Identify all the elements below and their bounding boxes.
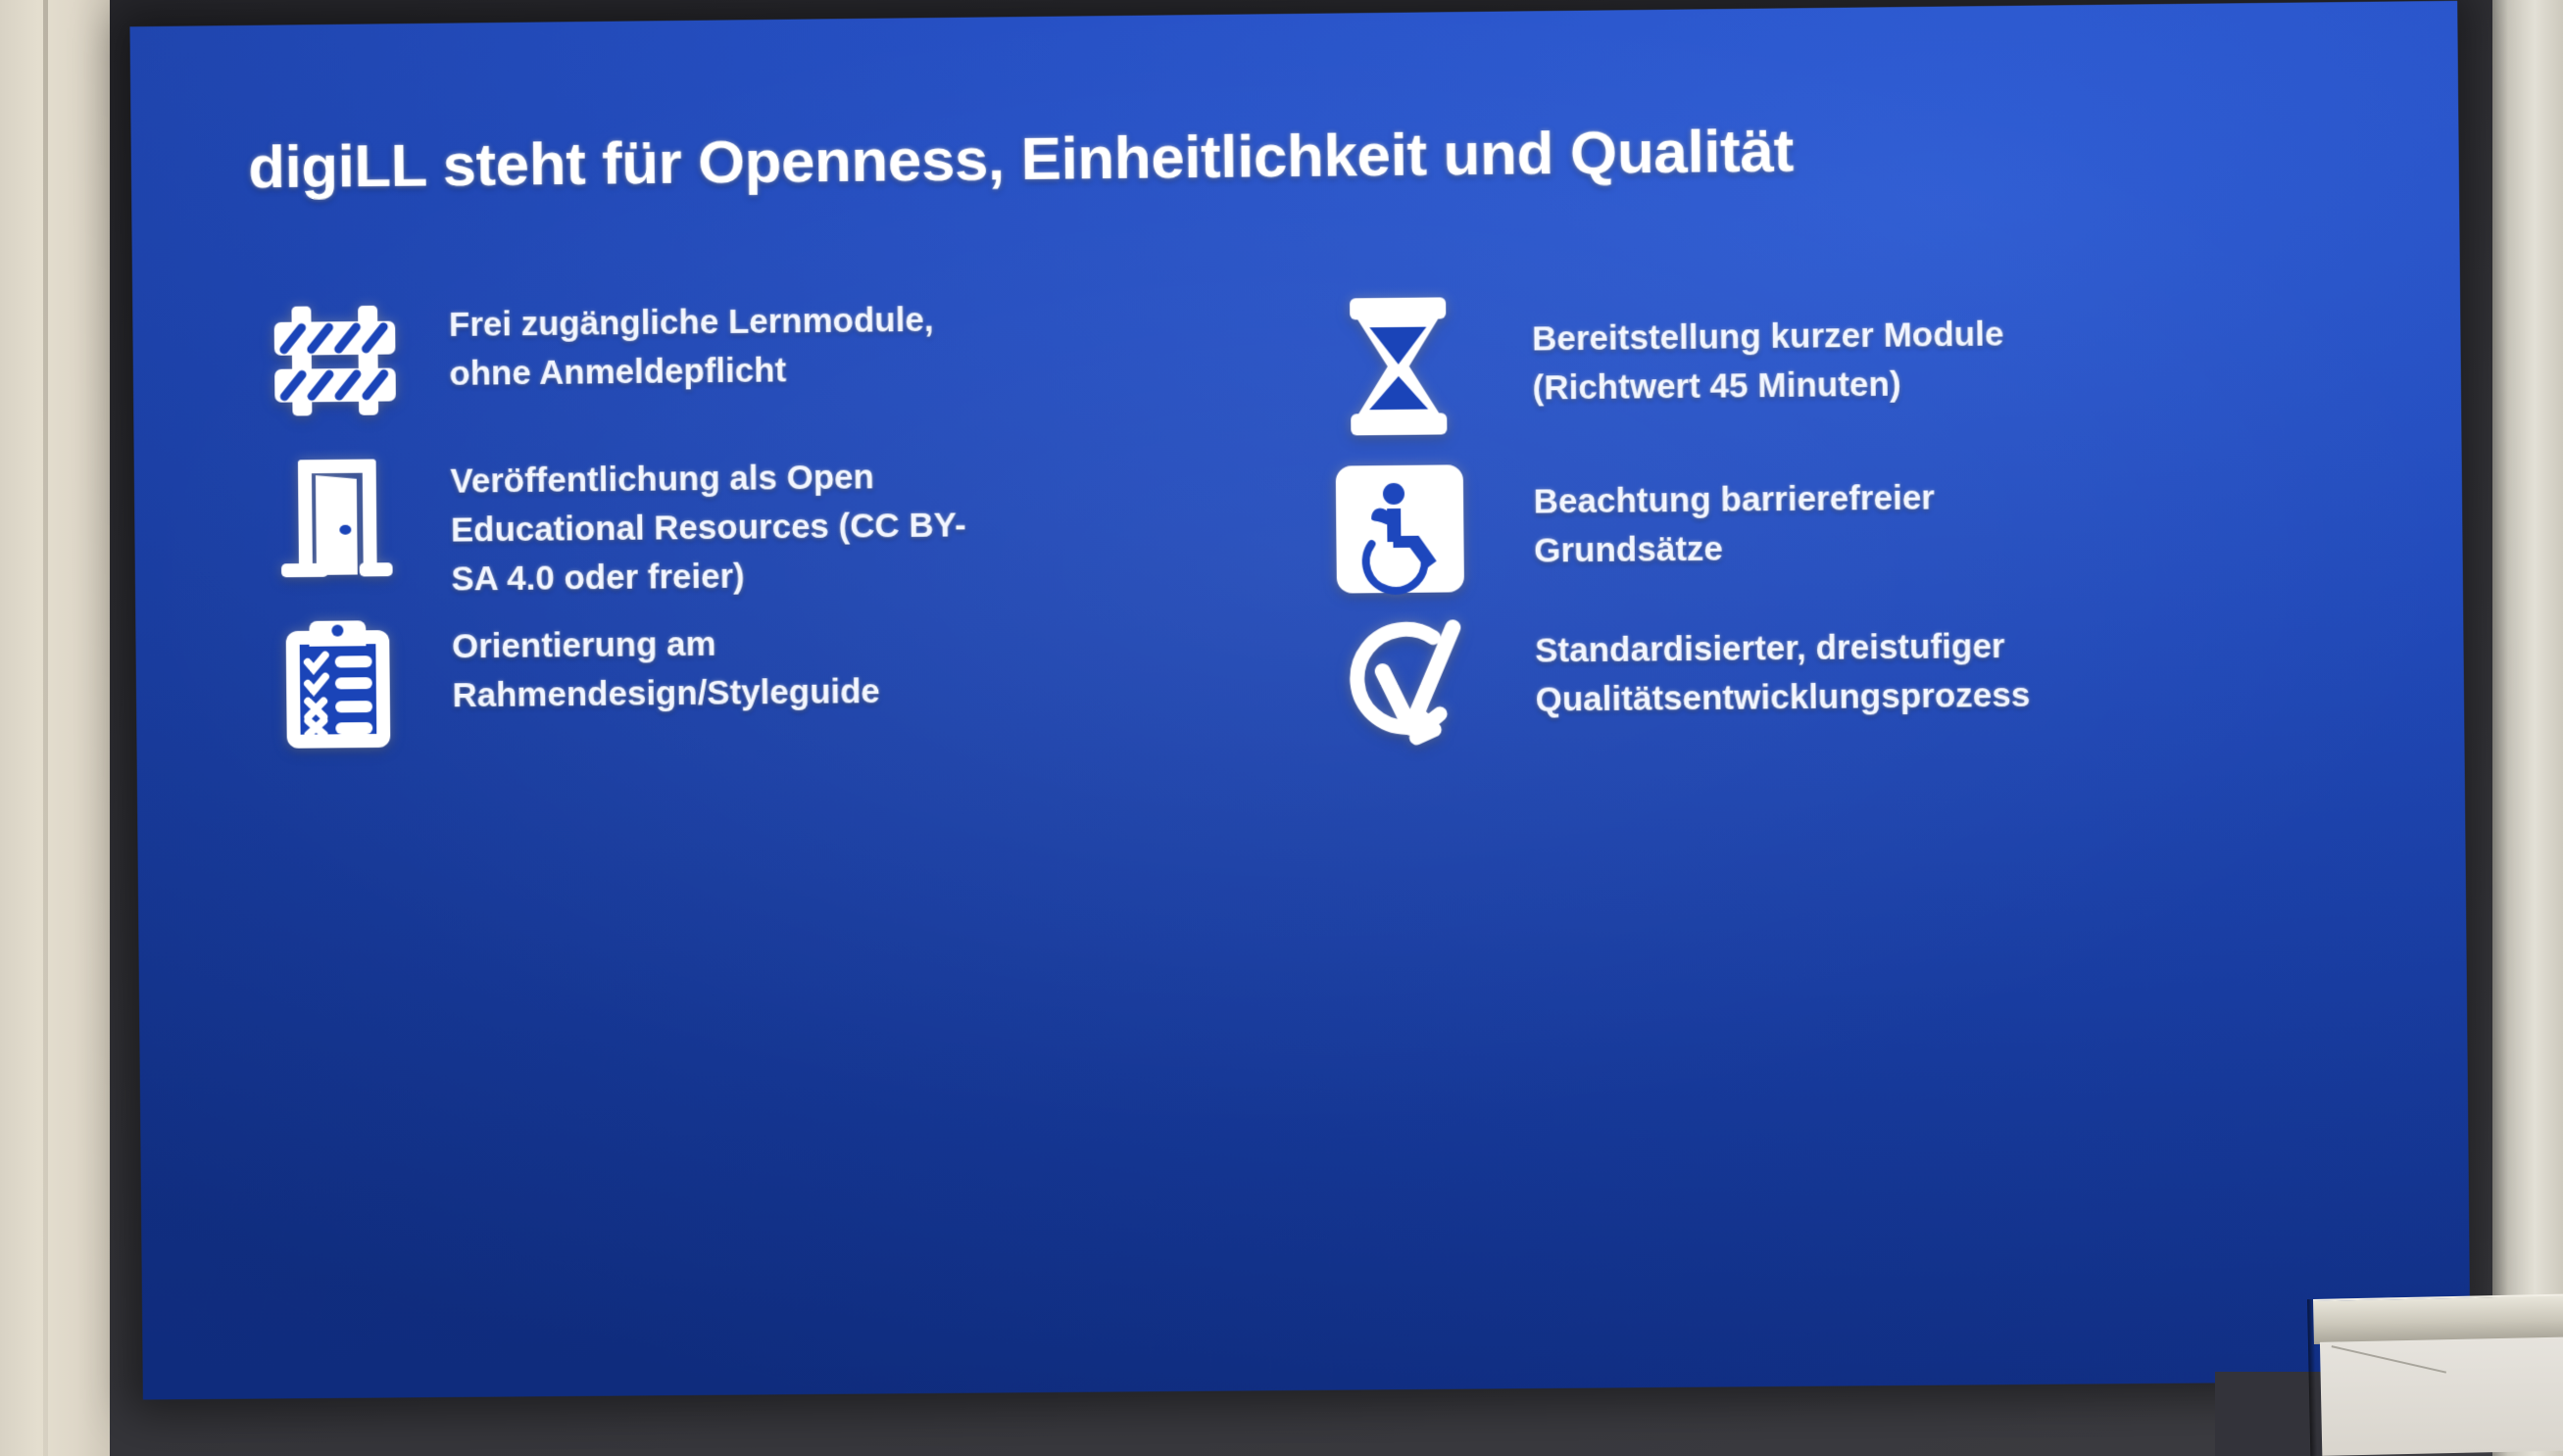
feature-item: Orientierung am Rahmendesign/Styleguide <box>265 601 1306 757</box>
flipchart-paper <box>2320 1337 2563 1456</box>
presentation-screen: digiLL steht für Openness, Einheitlichke… <box>129 1 2470 1400</box>
flipchart-occluder <box>2313 1294 2563 1456</box>
open-door-icon <box>263 444 411 592</box>
wall-seam <box>43 0 48 1456</box>
feature-item: Veröffentlichung als Open Educational Re… <box>263 435 1306 606</box>
slide-title: digiLL steht für Openness, Einheitlichke… <box>221 112 2368 202</box>
feature-text: Orientierung am Rahmendesign/Styleguide <box>452 604 1001 720</box>
feature-text: Standardisierter, dreistufiger Qualitäts… <box>1535 598 2086 724</box>
presentation-photo-scene: digiLL steht für Openness, Einheitlichke… <box>0 0 2563 1456</box>
wall-right-strip <box>2492 0 2563 1456</box>
wheelchair-accessibility-icon <box>1325 455 1473 604</box>
feature-text: Veröffentlichung als Open Educational Re… <box>450 438 999 603</box>
feature-text: Bereitstellung kurzer Module (Richtwert … <box>1532 286 2083 413</box>
feature-item: Bereitstellung kurzer Module (Richtwert … <box>1324 283 2371 441</box>
slide-surface: digiLL steht für Openness, Einheitlichke… <box>129 1 2470 1400</box>
desk-shadow <box>2215 1372 2323 1456</box>
clipboard-checklist-icon <box>265 609 413 757</box>
cycle-check-icon <box>1327 604 1475 752</box>
wall-left-strip <box>0 0 110 1456</box>
feature-item: Frei zugängliche Lernmodule, ohne Anmeld… <box>261 278 1303 436</box>
feature-column-right: Bereitstellung kurzer Module (Richtwert … <box>1323 264 2374 752</box>
feature-text: Beachtung barrierefreier Grundsätze <box>1533 449 2084 575</box>
feature-column-left: Frei zugängliche Lernmodule, ohne Anmeld… <box>261 274 1306 762</box>
feature-grid: Frei zugängliche Lernmodule, ohne Anmeld… <box>222 264 2374 763</box>
barrier-icon <box>261 288 409 436</box>
feature-item: Standardisierter, dreistufiger Qualitäts… <box>1327 595 2374 752</box>
hourglass-icon <box>1324 292 1472 441</box>
feature-item: Beachtung barrierefreier Grundsätze <box>1325 446 2372 604</box>
flipchart-rail <box>2313 1294 2563 1344</box>
feature-text: Frei zugängliche Lernmodule, ohne Anmeld… <box>449 281 998 398</box>
